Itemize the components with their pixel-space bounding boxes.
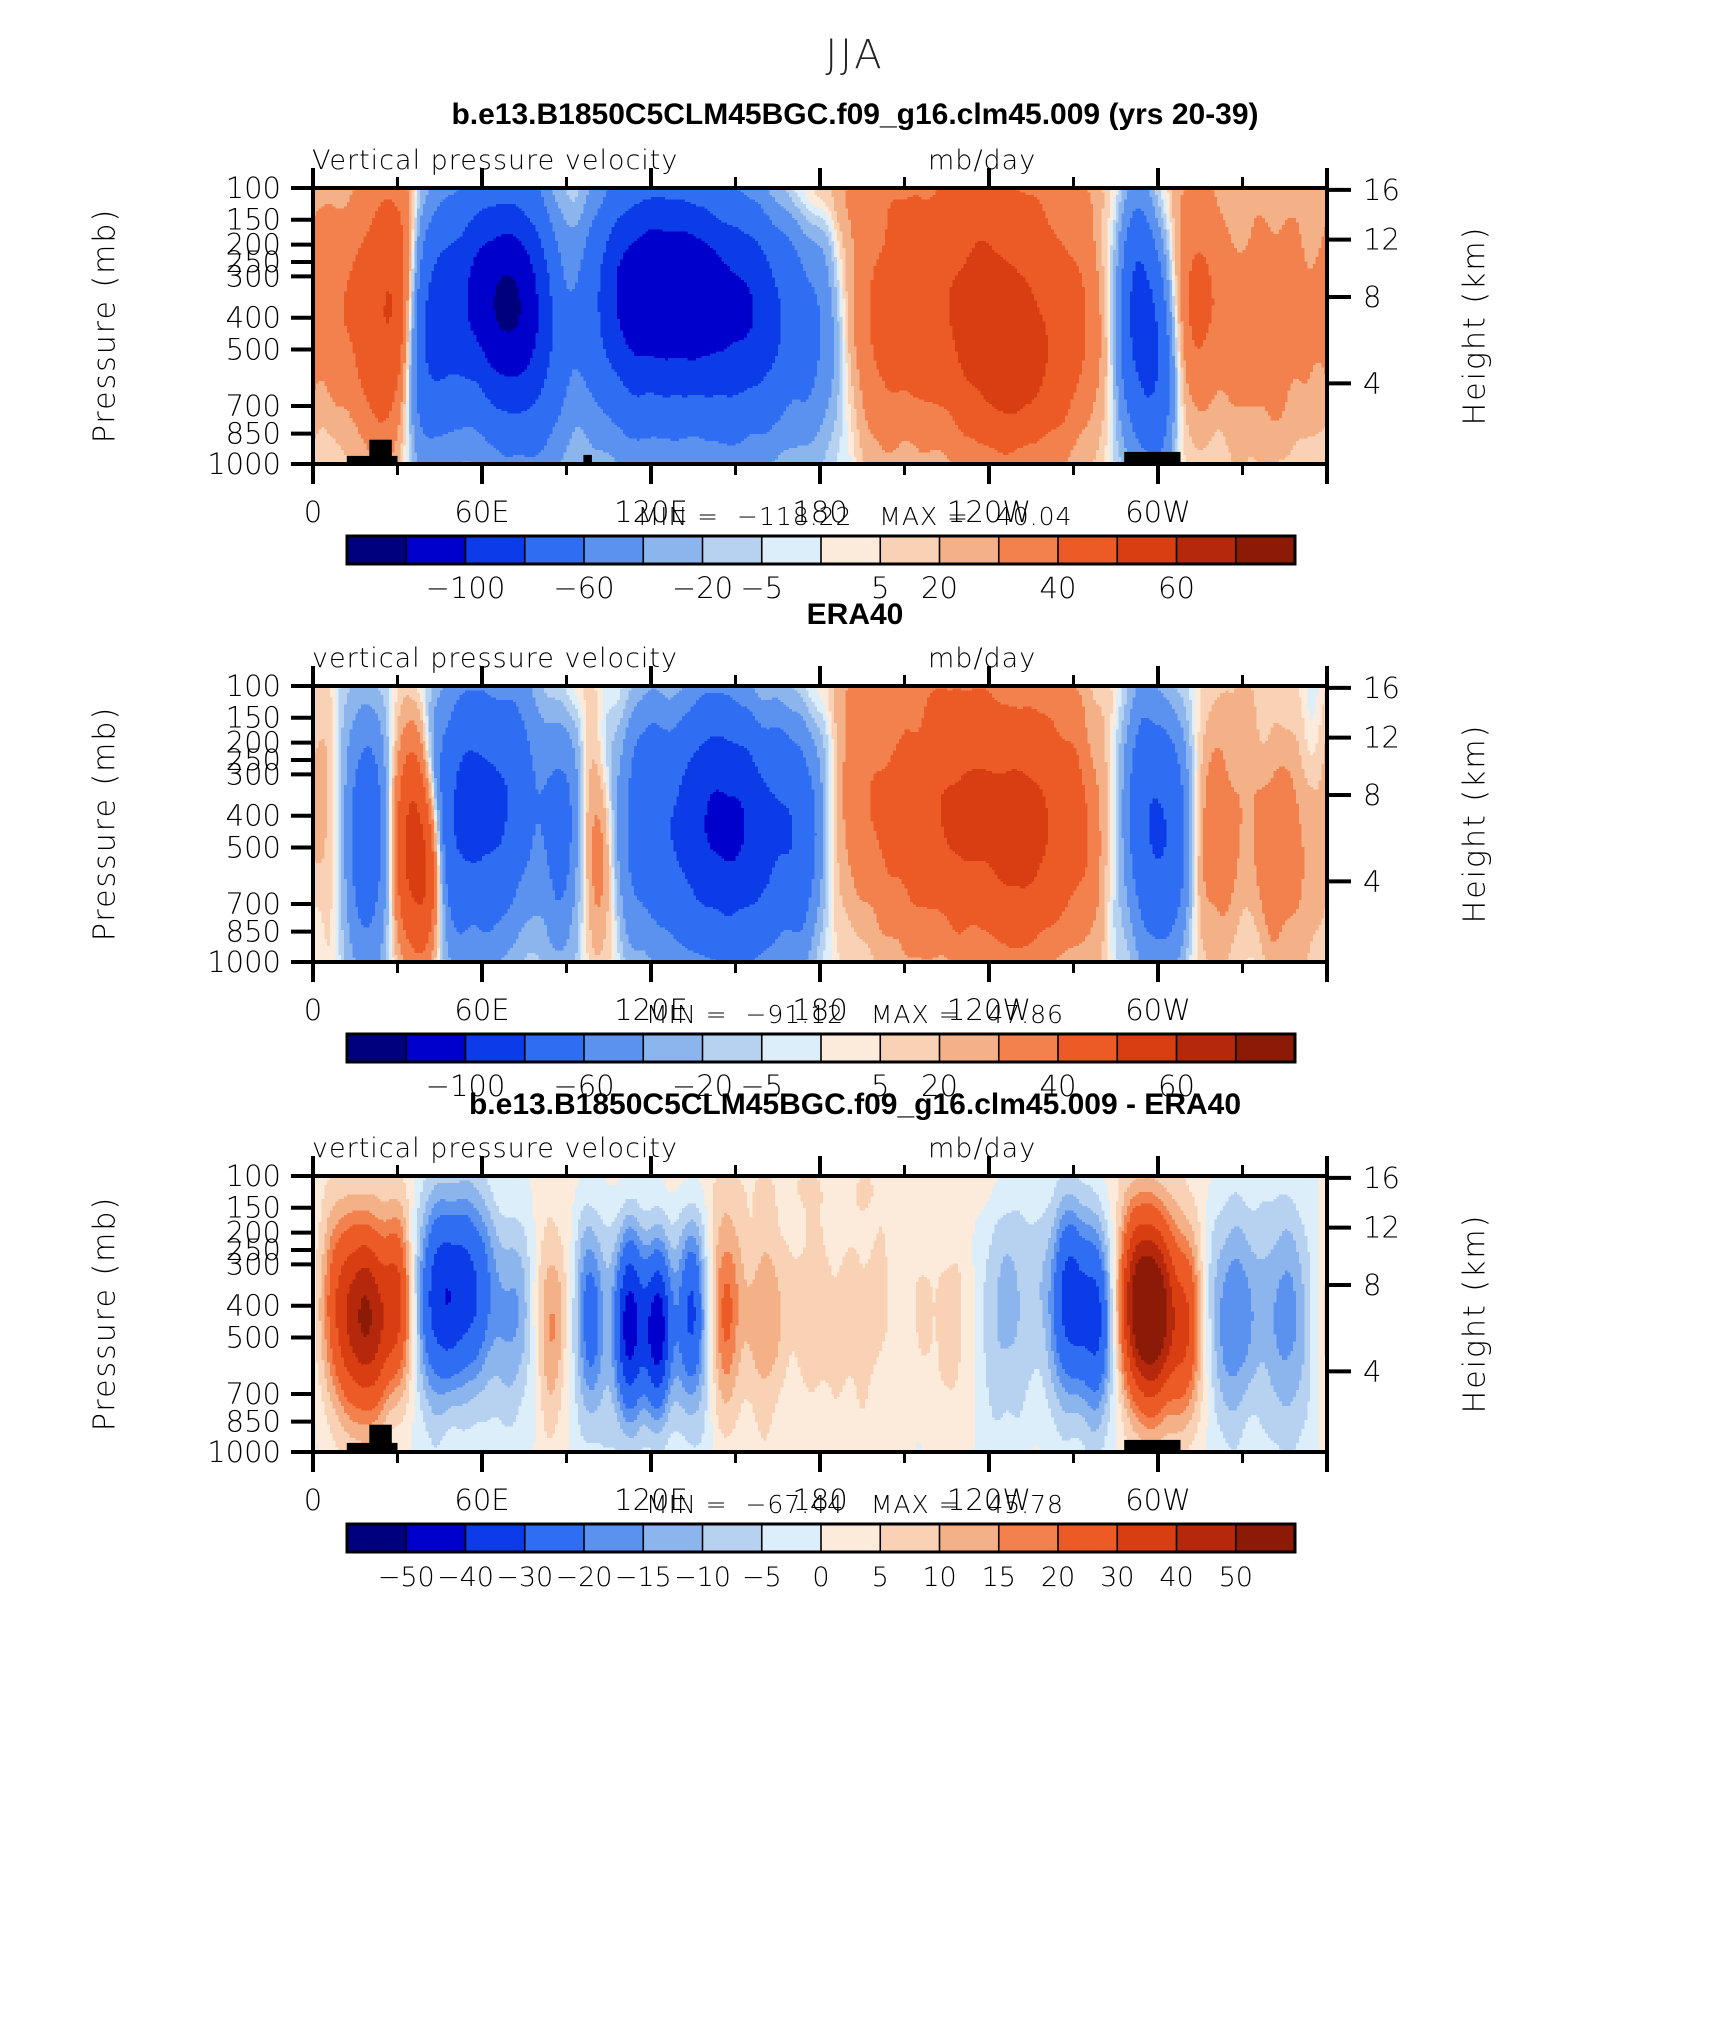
longitude-tick-label: 120W: [947, 1483, 1031, 1517]
colorbar-cell[interactable]: [1236, 536, 1296, 564]
colorbar-cell[interactable]: [999, 1524, 1059, 1552]
colorbar-cell[interactable]: [821, 536, 881, 564]
height-tick-label: 4: [1363, 366, 1381, 400]
colorbar-cell[interactable]: [703, 1524, 763, 1552]
colorbar-tick-label: −20: [556, 1562, 613, 1593]
colorbar-cell[interactable]: [406, 1034, 466, 1062]
panel-diff-plot: 1001502002503004005007008501000161284060…: [0, 1088, 1710, 1648]
colorbar-cell[interactable]: [1236, 1524, 1296, 1552]
colorbar-cell[interactable]: [999, 1034, 1059, 1062]
colorbar-cell[interactable]: [347, 1524, 407, 1552]
colorbar-cell[interactable]: [1117, 1524, 1177, 1552]
longitude-tick-label: 60W: [1125, 495, 1191, 529]
colorbar-tick-label: −40: [437, 1562, 494, 1593]
colorbar-cell[interactable]: [1058, 1034, 1118, 1062]
colorbar-tick-label: −10: [674, 1562, 731, 1593]
longitude-tick-label: 120E: [614, 1483, 688, 1517]
colorbar-cell[interactable]: [940, 1524, 1000, 1552]
colorbar-cell[interactable]: [406, 1524, 466, 1552]
pressure-tick-label: 100: [226, 1159, 281, 1193]
longitude-tick-label: 60E: [454, 495, 509, 529]
colorbar-cell[interactable]: [703, 1034, 763, 1062]
colorbar-tick-label: 5: [872, 1562, 889, 1593]
colorbar-tick-label: 40: [1159, 1562, 1193, 1593]
pressure-tick-label: 400: [226, 799, 281, 833]
colorbar-cell[interactable]: [762, 536, 822, 564]
colorbar-cell[interactable]: [1177, 1034, 1237, 1062]
colorbar-cell[interactable]: [525, 1524, 585, 1552]
colorbar-cell[interactable]: [406, 536, 466, 564]
colorbar-cell[interactable]: [584, 1524, 644, 1552]
pressure-tick-label: 1000: [207, 945, 281, 979]
longitude-tick-label: 120W: [947, 495, 1031, 529]
colorbar-cell[interactable]: [703, 536, 763, 564]
colorbar-cell[interactable]: [880, 1034, 940, 1062]
colorbar-cell[interactable]: [584, 1034, 644, 1062]
colorbar-tick-label: 50: [1219, 1562, 1253, 1593]
colorbar-tick-label: −50: [378, 1562, 435, 1593]
colorbar-cell[interactable]: [466, 1524, 526, 1552]
colorbar[interactable]: −100−60−20−55204060: [347, 536, 1296, 605]
contour-field: [313, 686, 1328, 963]
colorbar-cell[interactable]: [940, 1034, 1000, 1062]
height-tick-label: 8: [1363, 280, 1381, 314]
colorbar-tick-label: 15: [982, 1562, 1016, 1593]
longitude-tick-label: 0: [304, 1483, 322, 1517]
longitude-tick-label: 0: [304, 495, 322, 529]
height-tick-label: 12: [1363, 721, 1400, 755]
colorbar-cell[interactable]: [1058, 536, 1118, 564]
colorbar-cell[interactable]: [643, 1034, 703, 1062]
colorbar-cell[interactable]: [940, 536, 1000, 564]
colorbar-cell[interactable]: [1177, 1524, 1237, 1552]
longitude-tick-label: 180: [792, 1483, 847, 1517]
pressure-tick-label: 400: [226, 301, 281, 335]
longitude-tick-label: 60W: [1125, 1483, 1191, 1517]
colorbar-cell[interactable]: [1236, 1034, 1296, 1062]
colorbar-cell[interactable]: [643, 536, 703, 564]
longitude-tick-label: 120W: [947, 993, 1031, 1027]
colorbar-cell[interactable]: [1058, 1524, 1118, 1552]
colorbar-tick-label: 30: [1100, 1562, 1134, 1593]
colorbar-tick-label: −15: [615, 1562, 672, 1593]
colorbar-tick-label: 0: [812, 1562, 829, 1593]
pressure-tick-label: 500: [226, 1320, 281, 1354]
pressure-tick-label: 100: [226, 669, 281, 703]
colorbar-cell[interactable]: [762, 1524, 822, 1552]
pressure-tick-label: 850: [226, 417, 281, 451]
colorbar-cell[interactable]: [762, 1034, 822, 1062]
contour-field: [313, 188, 1328, 465]
colorbar-tick-label: −5: [742, 1562, 782, 1593]
pressure-tick-label: 500: [226, 332, 281, 366]
colorbar-cell[interactable]: [525, 536, 585, 564]
longitude-tick-label: 120E: [614, 495, 688, 529]
colorbar-cell[interactable]: [525, 1034, 585, 1062]
colorbar[interactable]: −50−40−30−20−15−10−505101520304050: [347, 1524, 1296, 1593]
colorbar-cell[interactable]: [347, 536, 407, 564]
colorbar-cell[interactable]: [347, 1034, 407, 1062]
height-tick-label: 8: [1363, 778, 1381, 812]
longitude-tick-label: 60E: [454, 993, 509, 1027]
pressure-tick-label: 1000: [207, 1435, 281, 1469]
colorbar-cell[interactable]: [821, 1524, 881, 1552]
colorbar-cell[interactable]: [880, 536, 940, 564]
longitude-tick-label: 0: [304, 993, 322, 1027]
longitude-tick-label: 120E: [614, 993, 688, 1027]
longitude-tick-label: 180: [792, 993, 847, 1027]
contour-field: [313, 1176, 1328, 1453]
pressure-tick-label: 850: [226, 915, 281, 949]
colorbar-cell[interactable]: [584, 536, 644, 564]
colorbar-cell[interactable]: [821, 1034, 881, 1062]
colorbar-tick-label: −30: [496, 1562, 553, 1593]
pressure-tick-label: 300: [226, 1247, 281, 1281]
longitude-tick-label: 60E: [454, 1483, 509, 1517]
colorbar-tick-label: 20: [1041, 1562, 1075, 1593]
colorbar-cell[interactable]: [466, 1034, 526, 1062]
pressure-tick-label: 850: [226, 1405, 281, 1439]
colorbar-cell[interactable]: [643, 1524, 703, 1552]
colorbar-cell[interactable]: [1117, 1034, 1177, 1062]
height-tick-label: 16: [1363, 671, 1400, 705]
height-tick-label: 16: [1363, 173, 1400, 207]
height-tick-label: 16: [1363, 1161, 1400, 1195]
pressure-tick-label: 400: [226, 1289, 281, 1323]
height-tick-label: 4: [1363, 864, 1381, 898]
height-tick-label: 12: [1363, 223, 1400, 257]
pressure-tick-label: 300: [226, 757, 281, 791]
panel-obs-plot: 1001502002503004005007008501000161284060…: [0, 598, 1710, 1158]
colorbar-cell[interactable]: [1177, 536, 1237, 564]
pressure-tick-label: 300: [226, 259, 281, 293]
figure-canvas: JJA b.e13.B1850C5CLM45BGC.f09_g16.clm45.…: [0, 0, 1710, 2038]
longitude-tick-label: 60W: [1125, 993, 1191, 1027]
colorbar-cell[interactable]: [466, 536, 526, 564]
colorbar-cell[interactable]: [1117, 536, 1177, 564]
colorbar-cell[interactable]: [999, 536, 1059, 564]
longitude-tick-label: 180: [792, 495, 847, 529]
colorbar-cell[interactable]: [880, 1524, 940, 1552]
pressure-tick-label: 500: [226, 830, 281, 864]
pressure-tick-label: 100: [226, 171, 281, 205]
colorbar-tick-label: 10: [922, 1562, 956, 1593]
height-tick-label: 12: [1363, 1211, 1400, 1245]
pressure-tick-label: 1000: [207, 447, 281, 481]
height-tick-label: 8: [1363, 1268, 1381, 1302]
height-tick-label: 4: [1363, 1354, 1381, 1388]
